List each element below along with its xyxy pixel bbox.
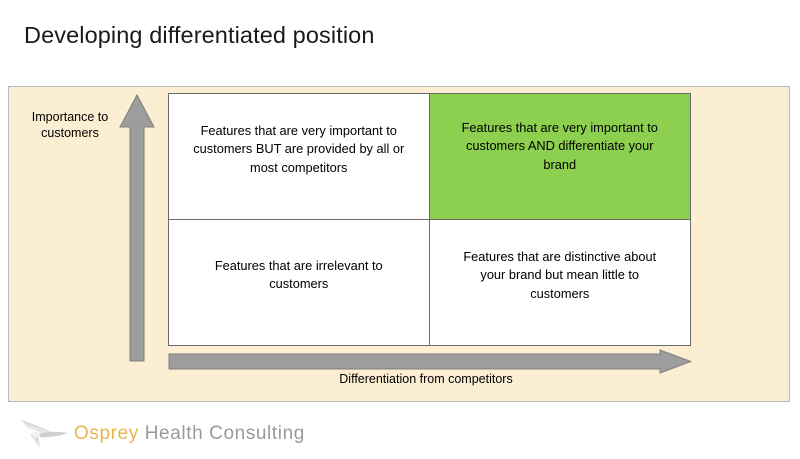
- quadrant-grid: Features that are very important to cust…: [168, 93, 691, 346]
- osprey-bird-icon: [18, 414, 72, 454]
- quadrant-top-left-label: Features that are very important to cust…: [191, 122, 407, 178]
- quadrant-bottom-left[interactable]: Features that are irrelevant to customer…: [169, 220, 430, 346]
- quadrant-top-right[interactable]: Features that are very important to cust…: [430, 94, 691, 220]
- quadrant-bottom-right[interactable]: Features that are distinctive about your…: [430, 220, 691, 346]
- quadrant-bottom-left-label: Features that are irrelevant to customer…: [191, 257, 407, 294]
- quadrant-top-left[interactable]: Features that are very important to cust…: [169, 94, 430, 220]
- logo-wordmark: Osprey Health Consulting: [74, 423, 305, 445]
- up-arrow-icon: [119, 93, 155, 363]
- quadrant-top-right-label: Features that are very important to cust…: [452, 119, 669, 175]
- logo-word-primary: Osprey: [74, 423, 139, 444]
- x-axis-label: Differentiation from competitors: [168, 372, 684, 386]
- company-logo: Osprey Health Consulting: [18, 412, 305, 456]
- logo-word-secondary: Health Consulting: [145, 423, 305, 444]
- quadrant-bottom-right-label: Features that are distinctive about your…: [452, 248, 669, 304]
- y-axis-label: Importance to customers: [14, 109, 126, 141]
- page-title: Developing differentiated position: [24, 22, 374, 49]
- right-arrow-icon: [168, 349, 692, 374]
